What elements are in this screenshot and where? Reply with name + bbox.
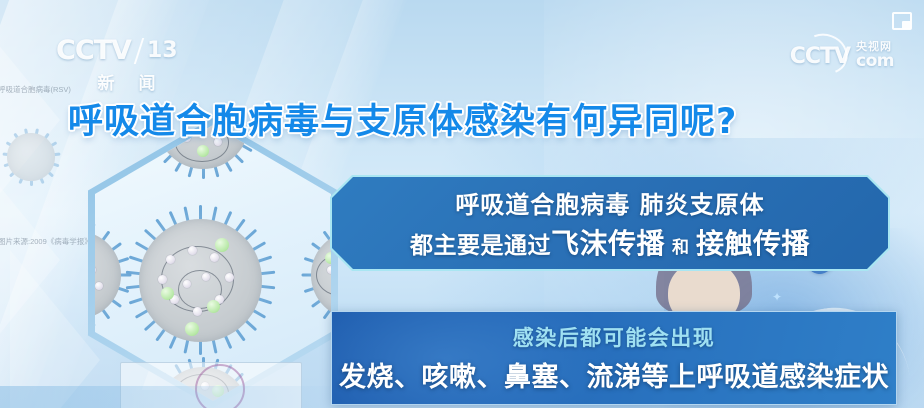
transmission-line-2: 都主要是通过 飞沫传播 和 接触传播 <box>410 222 810 262</box>
symptoms-line-2: 发烧、咳嗽、鼻塞、流涕等上呼吸道感染症状 <box>339 355 889 394</box>
info-box-symptoms: 感染后都可能会出现 发烧、咳嗽、鼻塞、流涕等上呼吸道感染症状 <box>331 311 897 405</box>
symptoms-line-1: 感染后都可能会出现 <box>513 322 716 352</box>
swoosh-icon <box>797 27 854 80</box>
cctv-com-domain: com <box>856 53 894 70</box>
certificate-decoration <box>120 362 302 408</box>
chevron-2 <box>0 150 60 370</box>
bottom-left-strip <box>0 386 330 408</box>
virus-core <box>7 133 55 181</box>
virus-particle-icon <box>125 205 275 355</box>
hexagon-inner <box>95 125 331 401</box>
page-title: 呼吸道合胞病毒与支原体感染有何异同呢? <box>68 93 737 144</box>
info-box-transmission: 呼吸道合胞病毒 肺炎支原体 都主要是通过 飞沫传播 和 接触传播 <box>330 175 890 271</box>
channel-sub-label: 新 闻 <box>56 69 206 94</box>
virus-particle-icon <box>301 221 331 329</box>
box2-content: 感染后都可能会出现 发烧、咳嗽、鼻塞、流涕等上呼吸道感染症状 <box>332 312 896 404</box>
diagram-caption: 图片来源:2009《病毒学报》 <box>0 236 92 247</box>
seal-decoration <box>195 364 245 408</box>
cctv13-channel-logo: CCTV 13 新 闻 <box>56 36 226 94</box>
chevron-1 <box>0 10 60 230</box>
transmission-prefix: 都主要是通过 <box>410 226 551 260</box>
transmission-emphasis-2: 接触传播 <box>696 222 810 262</box>
virus-particle-icon <box>147 357 259 401</box>
cctv-com-logo: CCTV 央视网 com <box>790 42 894 70</box>
logo-slash <box>134 38 144 64</box>
picture-in-picture-icon[interactable] <box>892 12 912 30</box>
transmission-emphasis-1: 飞沫传播 <box>551 222 665 262</box>
virus-particle-icon <box>2 128 60 186</box>
box1-content: 呼吸道合胞病毒 肺炎支原体 都主要是通过 飞沫传播 和 接触传播 <box>330 175 890 271</box>
cctv-com-cn-block: 央视网 com <box>856 42 894 70</box>
chevron-3 <box>10 250 100 408</box>
transmission-line-1: 呼吸道合胞病毒 肺炎支原体 <box>455 185 764 220</box>
virus-spikes <box>2 128 60 186</box>
channel-number: 13 <box>147 36 178 66</box>
cctv-brand-text: CCTV <box>56 36 131 66</box>
transmission-conjunction: 和 <box>672 233 689 258</box>
sparkle-icon: ✦ <box>772 290 782 304</box>
virus-particle-icon <box>95 221 131 329</box>
pip-inner-frame <box>902 21 911 29</box>
hexagon-border <box>88 118 338 408</box>
hexagon-frame <box>88 118 338 408</box>
cctv13-logo-row: CCTV 13 <box>56 36 226 66</box>
broadcast-screen: 呼吸道合胞病毒(RSV) 图片来源:2009《病毒学报》 <box>0 0 924 408</box>
